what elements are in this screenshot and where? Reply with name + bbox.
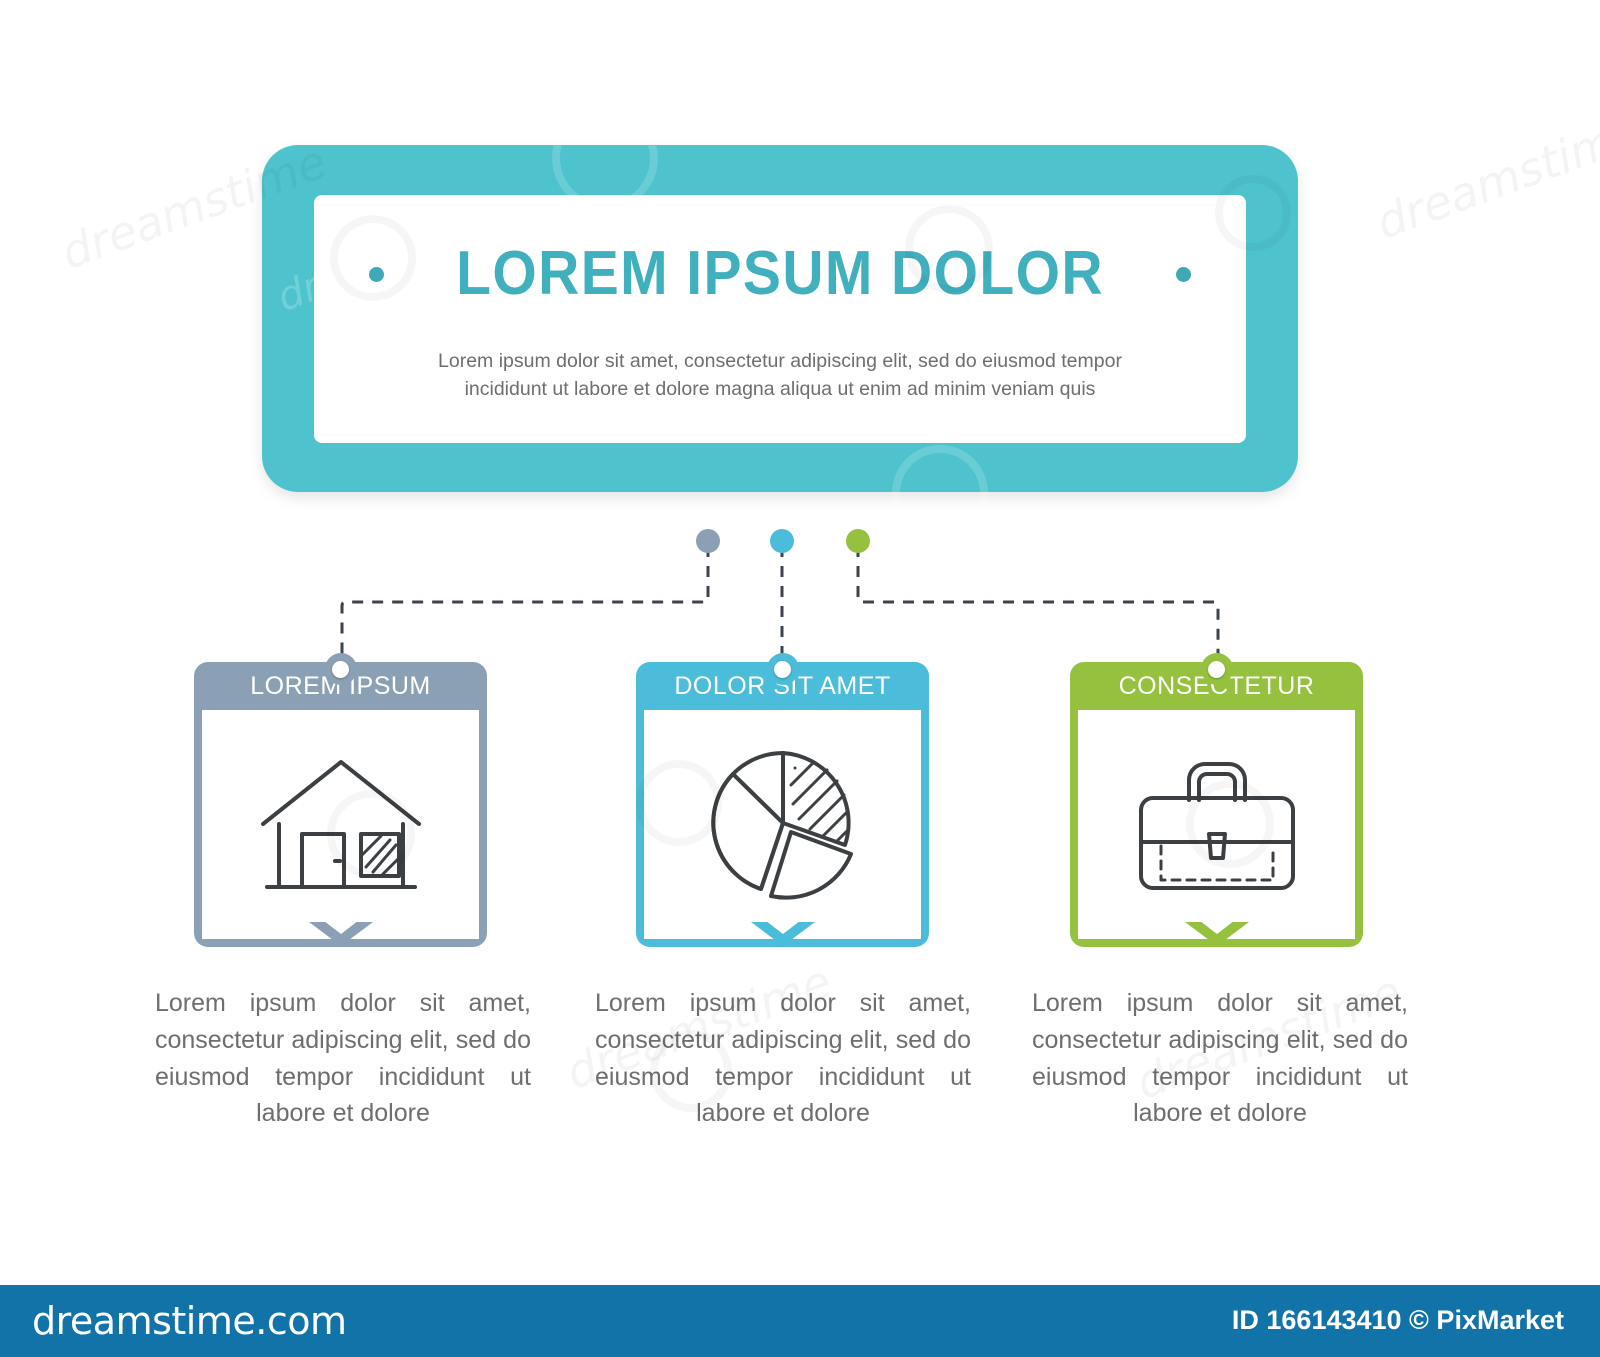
card-peg-hole-icon bbox=[1201, 653, 1233, 685]
title-bullet-left-icon bbox=[369, 267, 384, 282]
card-description-1: Lorem ipsum dolor sit amet, consectetur … bbox=[155, 985, 531, 1132]
card-description-2: Lorem ipsum dolor sit amet, consectetur … bbox=[595, 985, 971, 1132]
card-body bbox=[644, 710, 921, 939]
pie-chart-icon bbox=[703, 746, 863, 904]
card-shell: CONSECTETUR bbox=[1070, 662, 1363, 947]
header-subtitle-line-2: incididunt ut labore et dolore magna ali… bbox=[372, 375, 1188, 403]
card-shell: LOREM IPSUM bbox=[194, 662, 487, 947]
card-shell: DOLOR SIT AMET bbox=[636, 662, 929, 947]
card-body bbox=[202, 710, 479, 939]
footer-bar: dreamstime.com ID 166143410 © PixMarket bbox=[0, 1285, 1600, 1357]
connector-path-left bbox=[342, 546, 708, 665]
connector-dot-2-icon bbox=[770, 529, 794, 553]
header-title-row: LOREM IPSUM DOLOR bbox=[314, 243, 1246, 305]
header-subtitle-line-1: Lorem ipsum dolor sit amet, consectetur … bbox=[438, 350, 1122, 372]
watermark-text: dreamstime bbox=[1369, 104, 1600, 250]
header-inner-panel: LOREM IPSUM DOLOR Lorem ipsum dolor sit … bbox=[314, 195, 1246, 443]
dreamstime-logo: dreamstime.com bbox=[32, 1299, 346, 1343]
header-subtitle: Lorem ipsum dolor sit amet, consectetur … bbox=[372, 347, 1188, 404]
card-lorem-ipsum[interactable]: LOREM IPSUM bbox=[194, 662, 487, 947]
card-peg-hole-icon bbox=[767, 653, 799, 685]
watermark-ring bbox=[892, 445, 988, 541]
page-title: LOREM IPSUM DOLOR bbox=[456, 243, 1104, 305]
house-icon bbox=[257, 750, 425, 900]
card-peg-hole-icon bbox=[325, 653, 357, 685]
card-notch-icon bbox=[751, 922, 815, 948]
connector-dot-1-icon bbox=[696, 529, 720, 553]
card-consectetur[interactable]: CONSECTETUR bbox=[1070, 662, 1363, 947]
header-banner: dreamstime LOREM IPSUM DOLOR Lorem ipsum… bbox=[262, 145, 1298, 492]
title-bullet-right-icon bbox=[1176, 267, 1191, 282]
briefcase-icon bbox=[1131, 754, 1303, 896]
connector-dot-3-icon bbox=[846, 529, 870, 553]
card-dolor-sit-amet[interactable]: DOLOR SIT AMET bbox=[636, 662, 929, 947]
connector-path-right bbox=[858, 546, 1218, 665]
image-id-label: ID 166143410 © PixMarket bbox=[1232, 1305, 1564, 1336]
card-notch-icon bbox=[1185, 922, 1249, 948]
card-notch-icon bbox=[309, 922, 373, 948]
card-body bbox=[1078, 710, 1355, 939]
card-description-3: Lorem ipsum dolor sit amet, consectetur … bbox=[1032, 985, 1408, 1132]
